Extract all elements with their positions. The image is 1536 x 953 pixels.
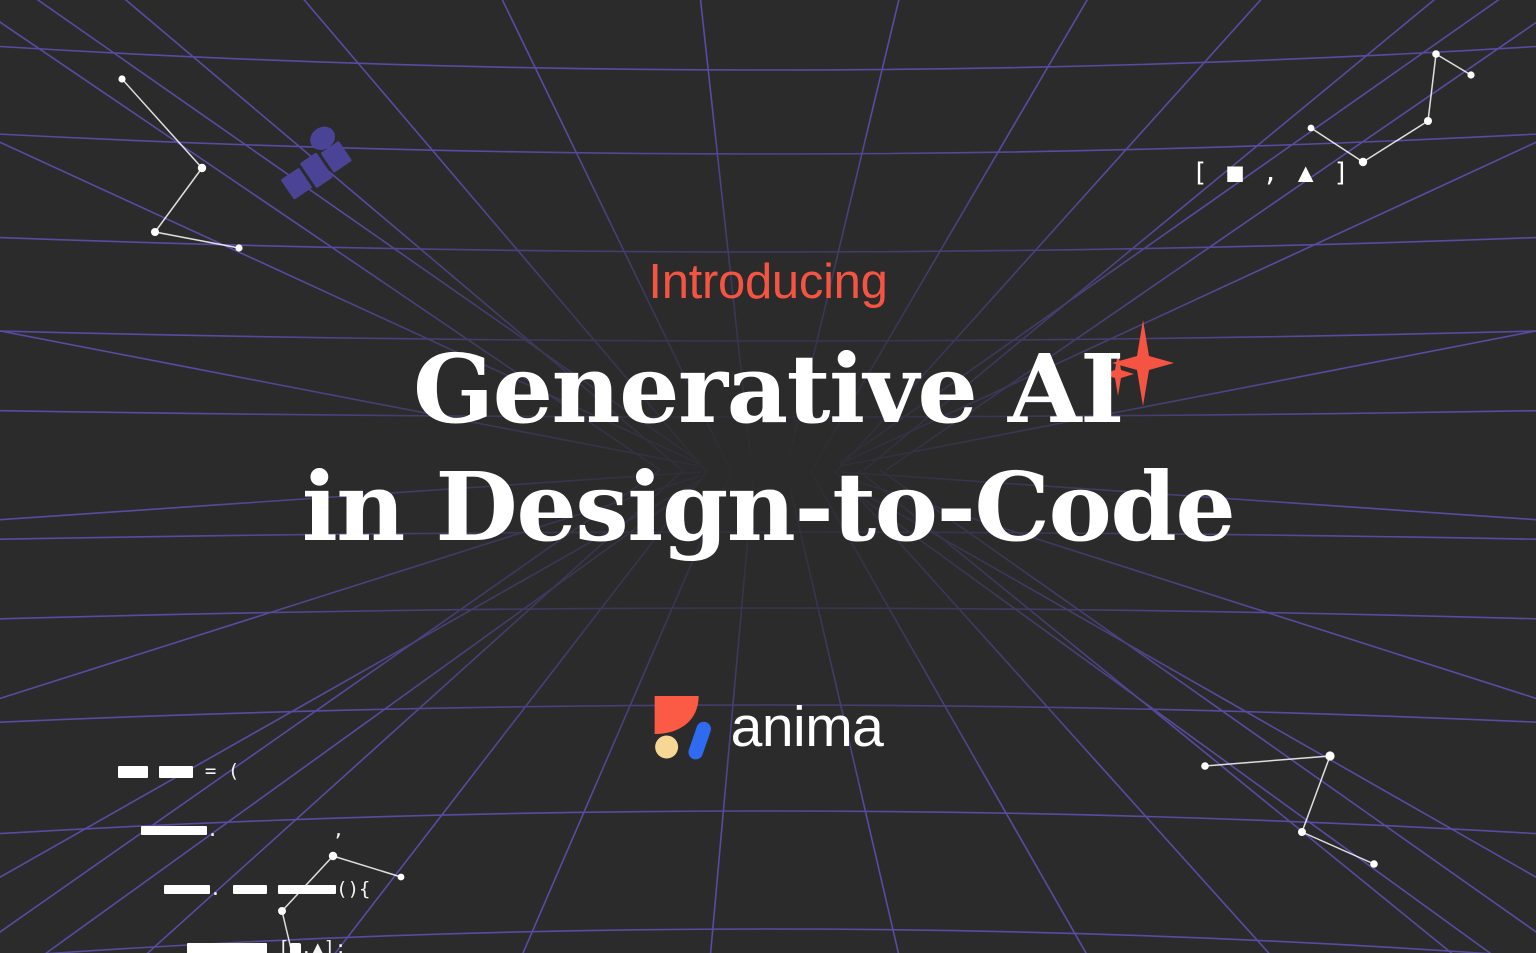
logo-red-wedge bbox=[655, 696, 699, 734]
headline-line-2: in Design-to-Code bbox=[302, 449, 1235, 567]
anima-wordmark: anima bbox=[731, 699, 884, 756]
logo-yellow-circle bbox=[655, 736, 678, 759]
headline-line-1: Generative AI bbox=[302, 331, 1235, 449]
page-title: Generative AI in Design-to-Code bbox=[302, 331, 1235, 567]
hero-content: Introducing Generative AI in Design-to-C… bbox=[0, 0, 1536, 953]
logo-blue-capsule bbox=[686, 720, 712, 760]
anima-logo-lockup[interactable]: anima bbox=[653, 694, 884, 760]
anima-logo-mark bbox=[653, 694, 715, 760]
promo-hero-canvas: = ( . , . (){ [,▲]; } } [ ■ , ▲ ] Introd… bbox=[0, 0, 1536, 953]
eyebrow-text: Introducing bbox=[648, 258, 887, 307]
